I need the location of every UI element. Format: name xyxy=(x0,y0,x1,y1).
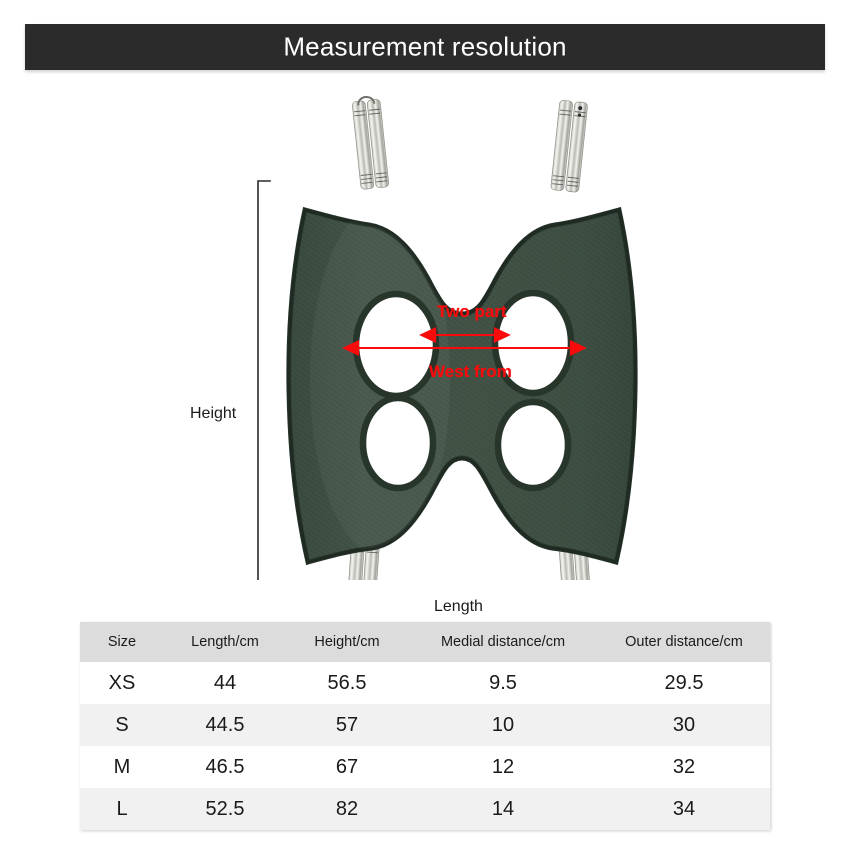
cell-height: 56.5 xyxy=(286,662,408,704)
product-illustration-svg xyxy=(0,80,850,580)
annotation-two-part: Two part xyxy=(437,302,507,322)
table-header-row: Size Length/cm Height/cm Medial distance… xyxy=(80,622,770,662)
height-dimension-label: Height xyxy=(190,405,236,423)
strap-top-left xyxy=(352,96,389,190)
cell-medial: 12 xyxy=(408,746,598,788)
leg-hole-bottom-right xyxy=(498,402,568,488)
product-diagram: Height Length Two part West from xyxy=(0,80,850,580)
size-table-head: Size Length/cm Height/cm Medial distance… xyxy=(80,622,770,662)
cell-length: 52.5 xyxy=(164,788,286,830)
cell-height: 57 xyxy=(286,704,408,746)
cell-medial: 10 xyxy=(408,704,598,746)
cell-size: S xyxy=(80,704,164,746)
leg-hole-top-left xyxy=(356,294,436,396)
length-dimension-label: Length xyxy=(434,598,483,616)
page-title: Measurement resolution xyxy=(25,32,825,63)
cell-medial: 14 xyxy=(408,788,598,830)
table-row: XS 44 56.5 9.5 29.5 xyxy=(80,662,770,704)
cell-height: 82 xyxy=(286,788,408,830)
header-bar: Measurement resolution xyxy=(25,24,825,70)
table-row: L 52.5 82 14 34 xyxy=(80,788,770,830)
cell-length: 46.5 xyxy=(164,746,286,788)
column-header-size: Size xyxy=(80,622,164,662)
harness-body xyxy=(280,200,650,580)
cell-outer: 32 xyxy=(598,746,770,788)
cell-medial: 9.5 xyxy=(408,662,598,704)
column-header-length: Length/cm xyxy=(164,622,286,662)
column-header-medial: Medial distance/cm xyxy=(408,622,598,662)
annotation-west-from: West from xyxy=(429,362,512,382)
cell-length: 44 xyxy=(164,662,286,704)
cell-size: XS xyxy=(80,662,164,704)
cell-height: 67 xyxy=(286,746,408,788)
leg-hole-bottom-left xyxy=(363,398,433,488)
column-header-height: Height/cm xyxy=(286,622,408,662)
size-table: Size Length/cm Height/cm Medial distance… xyxy=(80,622,770,830)
cell-outer: 29.5 xyxy=(598,662,770,704)
column-header-outer: Outer distance/cm xyxy=(598,622,770,662)
cell-outer: 30 xyxy=(598,704,770,746)
table-row: S 44.5 57 10 30 xyxy=(80,704,770,746)
size-chart: Size Length/cm Height/cm Medial distance… xyxy=(80,622,770,830)
strap-top-right xyxy=(551,100,588,192)
cell-size: L xyxy=(80,788,164,830)
table-row: M 46.5 67 12 32 xyxy=(80,746,770,788)
height-dimension-bracket xyxy=(258,181,270,580)
cell-size: M xyxy=(80,746,164,788)
size-table-body: XS 44 56.5 9.5 29.5 S 44.5 57 10 30 M 46… xyxy=(80,662,770,830)
cell-outer: 34 xyxy=(598,788,770,830)
cell-length: 44.5 xyxy=(164,704,286,746)
page-root: Measurement resolution xyxy=(0,0,850,850)
